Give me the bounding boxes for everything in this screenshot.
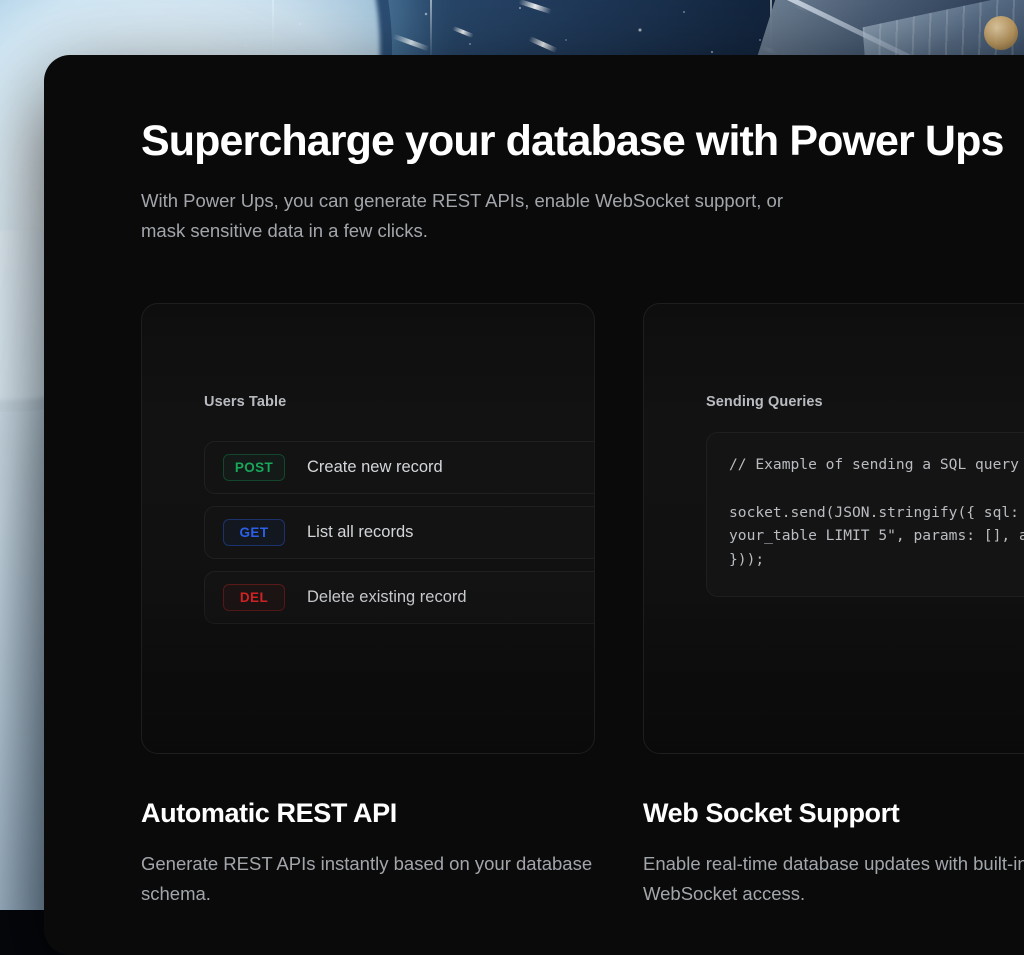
websocket-preview-body: Sending Queries // Example of sending a …	[706, 394, 1024, 597]
preview-title-sending-queries: Sending Queries	[706, 394, 1024, 410]
endpoint-row-post[interactable]: POST Create new record	[204, 441, 595, 494]
endpoint-label: List all records	[307, 523, 413, 542]
satellite-dish	[984, 16, 1018, 50]
websocket-preview: Sending Queries // Example of sending a …	[643, 303, 1024, 754]
method-badge-post: POST	[223, 454, 285, 481]
preview-title-users-table: Users Table	[204, 394, 595, 410]
feature-description-rest-api: Generate REST APIs instantly based on yo…	[141, 849, 601, 909]
endpoint-row-get[interactable]: GET List all records	[204, 506, 595, 559]
endpoint-label: Create new record	[307, 458, 443, 477]
feature-title-websocket: Web Socket Support	[643, 798, 1024, 829]
rest-api-preview-body: Users Table POST Create new record GET L…	[204, 394, 595, 624]
feature-description-websocket: Enable real-time database updates with b…	[643, 849, 1024, 909]
page-title: Supercharge your database with Power Ups	[141, 118, 1024, 164]
feature-title-rest-api: Automatic REST API	[141, 798, 595, 829]
endpoint-list: POST Create new record GET List all reco…	[204, 441, 595, 624]
tether-line	[430, 0, 432, 58]
page-subtitle: With Power Ups, you can generate REST AP…	[141, 186, 801, 246]
method-badge-del: DEL	[223, 584, 285, 611]
feature-card-grid: Users Table POST Create new record GET L…	[141, 303, 1024, 909]
code-snippet: // Example of sending a SQL query socket…	[729, 453, 1024, 572]
rest-api-preview: Users Table POST Create new record GET L…	[141, 303, 595, 754]
code-block: // Example of sending a SQL query socket…	[706, 432, 1024, 597]
feature-card-rest-api: Users Table POST Create new record GET L…	[141, 303, 595, 909]
endpoint-label: Delete existing record	[307, 588, 467, 607]
panel-header: Supercharge your database with Power Ups…	[141, 118, 1024, 246]
method-badge-get: GET	[223, 519, 285, 546]
power-ups-panel: Supercharge your database with Power Ups…	[44, 55, 1024, 955]
feature-card-websocket: Sending Queries // Example of sending a …	[643, 303, 1024, 909]
endpoint-row-del[interactable]: DEL Delete existing record	[204, 571, 595, 624]
